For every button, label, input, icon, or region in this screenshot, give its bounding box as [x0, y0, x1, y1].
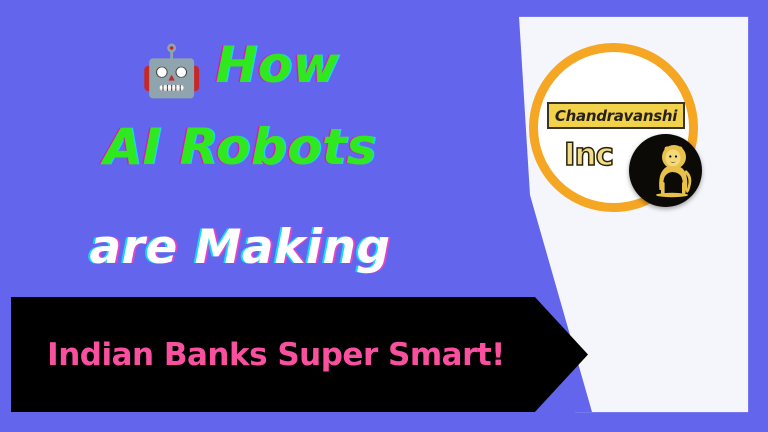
robot-icon: 🤖: [141, 42, 204, 101]
lion-icon: [629, 134, 702, 207]
subtitle-banner: Indian Banks Super Smart!: [11, 297, 588, 412]
thumbnail-canvas: Chandravanshi Inc: [0, 0, 768, 432]
logo-brand-name: Chandravanshi: [555, 107, 677, 125]
headline-line-1-text: How: [215, 36, 339, 94]
headline-block: 🤖How AI Robots are Making: [0, 0, 480, 300]
headline-line-3: are Making: [0, 220, 480, 275]
logo-name-plate: Chandravanshi: [547, 102, 685, 129]
headline-line-2: AI Robots: [0, 118, 480, 176]
lion-glyph: [639, 142, 693, 200]
headline-line-1: 🤖How: [0, 36, 480, 101]
subtitle-text: Indian Banks Super Smart!: [11, 297, 541, 412]
logo-suffix-text: Inc: [564, 137, 613, 173]
brand-logo[interactable]: Chandravanshi Inc: [529, 43, 698, 212]
